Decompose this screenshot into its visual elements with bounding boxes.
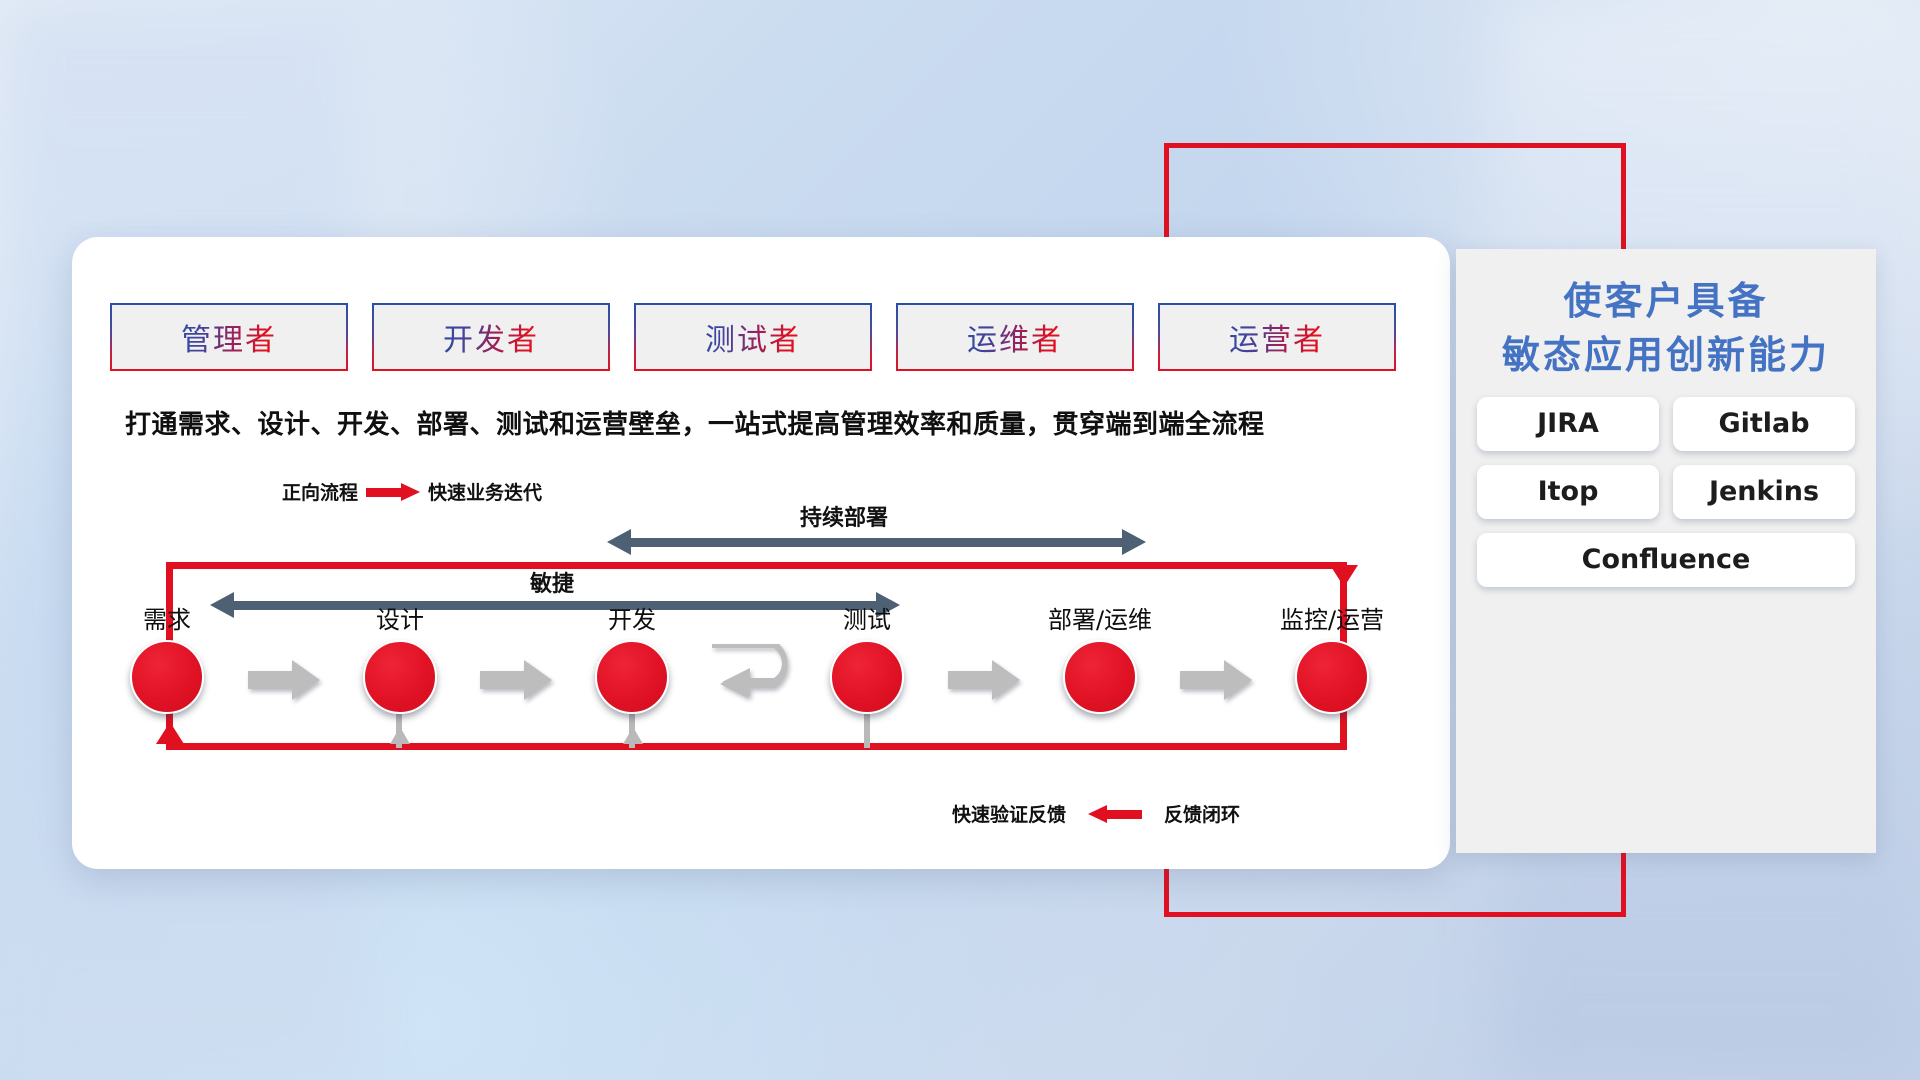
stage-dot — [363, 640, 437, 714]
stage-dot — [830, 640, 904, 714]
role-label: 运营者 — [1229, 315, 1325, 359]
role-box-1[interactable]: 开发者 — [372, 303, 610, 371]
role-box-0[interactable]: 管理者 — [110, 303, 348, 371]
arrow-right-icon — [366, 484, 420, 500]
stage-label: 监控/运营 — [1280, 600, 1384, 635]
tool-button-itop[interactable]: Itop — [1477, 465, 1659, 519]
tool-button-confluence[interactable]: Confluence — [1477, 533, 1855, 587]
tools-panel: 使客户具备 敏态应用创新能力 JIRA Gitlab Itop Jenkins … — [1456, 249, 1876, 853]
tools-list: JIRA Gitlab Itop Jenkins Confluence — [1468, 397, 1864, 587]
roles-row: 管理者 开发者 测试者 运维者 运营者 — [110, 303, 1396, 371]
stage-dot — [1063, 640, 1137, 714]
stage-dot — [595, 640, 669, 714]
span-arrow-continuous-deployment — [607, 529, 1146, 555]
panel-title-line-2: 敏态应用创新能力 — [1456, 329, 1876, 383]
stage-label: 设计 — [376, 600, 424, 635]
legend-forward-from: 正向流程 — [282, 478, 358, 505]
stage-node-2[interactable]: 开发 — [595, 640, 669, 714]
feedback-rail-bottom — [166, 743, 1347, 750]
stage-node-4[interactable]: 部署/运维 — [1063, 640, 1137, 714]
stage-dot — [130, 640, 204, 714]
stub-dev-arrowhead-icon — [623, 727, 643, 744]
role-label: 测试者 — [705, 315, 801, 359]
tool-button-gitlab[interactable]: Gitlab — [1673, 397, 1855, 451]
stage-node-1[interactable]: 设计 — [363, 640, 437, 714]
stage-node-0[interactable]: 需求 — [130, 640, 204, 714]
role-box-4[interactable]: 运营者 — [1158, 303, 1396, 371]
role-box-3[interactable]: 运维者 — [896, 303, 1134, 371]
span-label-continuous-deployment: 持续部署 — [800, 500, 888, 532]
panel-title: 使客户具备 敏态应用创新能力 — [1456, 249, 1876, 383]
panel-title-line-1: 使客户具备 — [1456, 275, 1876, 329]
feedback-rail-top — [166, 562, 1347, 569]
tool-button-jira[interactable]: JIRA — [1477, 397, 1659, 451]
stage-label: 需求 — [143, 600, 191, 635]
role-label: 运维者 — [967, 315, 1063, 359]
stage-label: 测试 — [843, 600, 891, 635]
feedback-arrowhead-down-icon — [1330, 565, 1358, 587]
flow-arrow-3 — [948, 660, 1020, 700]
stage-label: 部署/运维 — [1048, 600, 1152, 635]
stage-node-5[interactable]: 监控/运营 — [1295, 640, 1369, 714]
feedback-arrowhead-up-icon — [156, 722, 184, 744]
legend-feedback-from: 快速验证反馈 — [952, 800, 1066, 827]
flow-arrow-4 — [1180, 660, 1252, 700]
loop-arrow-icon — [708, 644, 806, 706]
role-label: 管理者 — [181, 315, 277, 359]
tool-button-jenkins[interactable]: Jenkins — [1673, 465, 1855, 519]
stub-design-arrowhead-icon — [390, 727, 410, 744]
stage-dot — [1295, 640, 1369, 714]
outer-loop-bottom — [1164, 912, 1626, 917]
role-label: 开发者 — [443, 315, 539, 359]
pipeline: 需求 设计 开发 测试 部署/运维 监控/ — [120, 612, 1160, 712]
arrow-left-icon — [1088, 806, 1142, 822]
role-box-2[interactable]: 测试者 — [634, 303, 872, 371]
stage-label: 开发 — [608, 600, 656, 635]
stage-node-3[interactable]: 测试 — [830, 640, 904, 714]
legend-feedback-to: 反馈闭环 — [1164, 800, 1240, 827]
outer-loop-top — [1164, 143, 1626, 148]
legend-feedback: 快速验证反馈 反馈闭环 — [952, 800, 1240, 827]
legend-forward: 正向流程 快速业务迭代 — [282, 478, 542, 505]
flow-arrow-1 — [480, 660, 552, 700]
legend-forward-to: 快速业务迭代 — [428, 478, 542, 505]
description-text: 打通需求、设计、开发、部署、测试和运营壁垒，一站式提高管理效率和质量，贯穿端到端… — [125, 404, 1435, 441]
flow-arrow-0 — [248, 660, 320, 700]
